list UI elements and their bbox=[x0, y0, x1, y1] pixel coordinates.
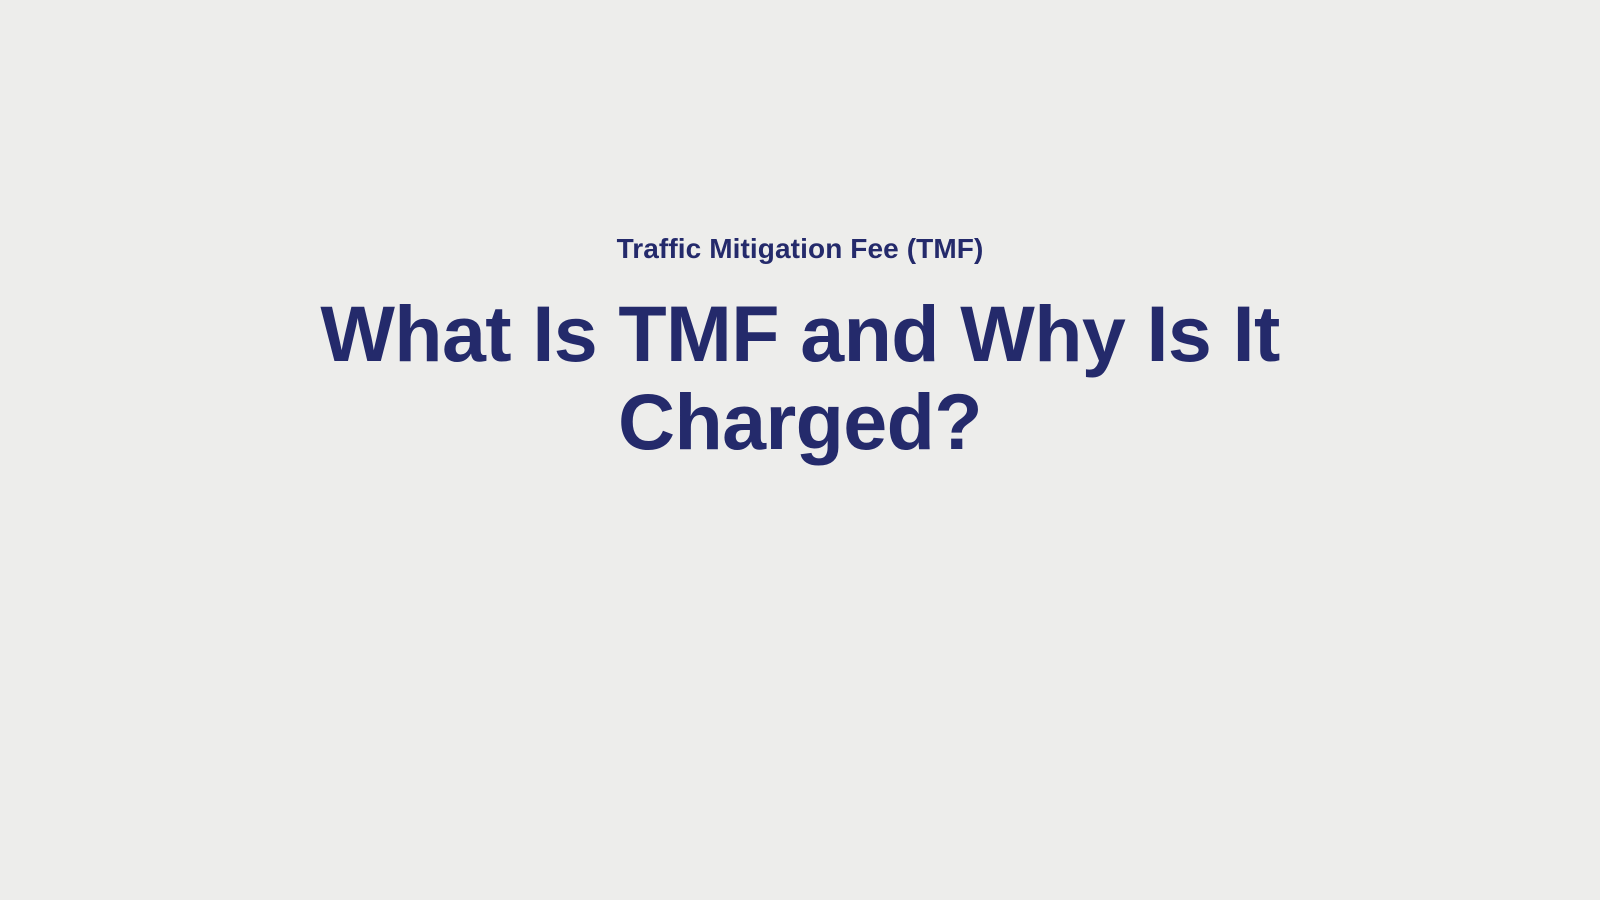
page-title: What Is TMF and Why Is It Charged? bbox=[300, 290, 1300, 466]
hero-section: Traffic Mitigation Fee (TMF) What Is TMF… bbox=[0, 0, 1600, 466]
hero-eyebrow-label: Traffic Mitigation Fee (TMF) bbox=[617, 228, 984, 270]
page-root: Traffic Mitigation Fee (TMF) What Is TMF… bbox=[0, 0, 1600, 900]
